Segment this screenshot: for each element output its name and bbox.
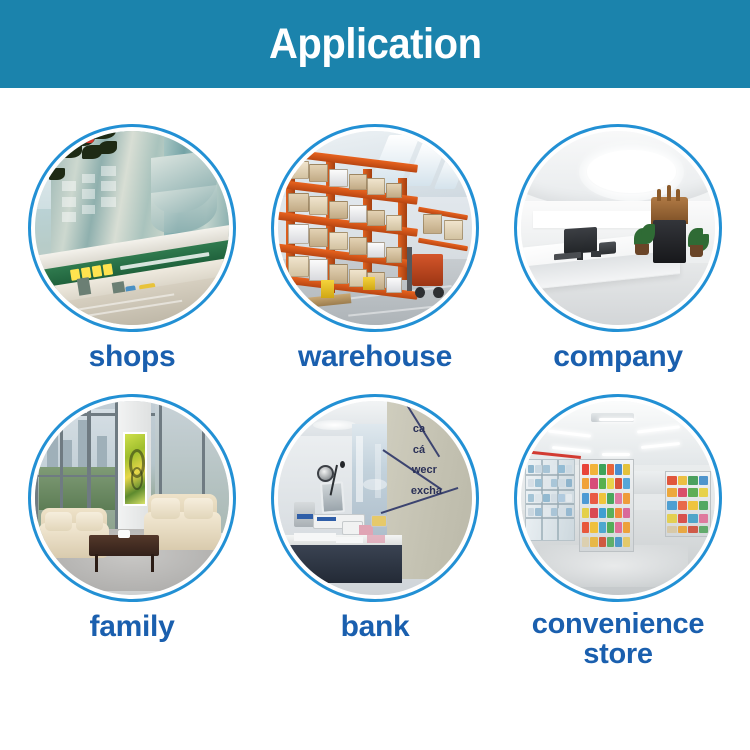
convenience-store-circle-frame bbox=[514, 394, 722, 602]
application-grid: shops bbox=[0, 88, 750, 750]
application-card-bank[interactable]: ca cá wecr excha bbox=[250, 394, 500, 642]
company-label: company bbox=[553, 341, 683, 372]
warehouse-racking bbox=[278, 147, 418, 306]
application-card-company[interactable]: company bbox=[493, 124, 743, 372]
application-card-family[interactable]: family bbox=[7, 394, 257, 642]
family-coffee-table bbox=[89, 535, 159, 556]
application-card-warehouse[interactable]: warehouse bbox=[250, 124, 500, 372]
shops-circle-frame bbox=[28, 124, 236, 332]
application-card-shops[interactable]: shops bbox=[7, 124, 257, 372]
convenience-store-label: convenience store bbox=[532, 609, 704, 669]
warehouse-photo bbox=[278, 131, 472, 325]
warehouse-circle-frame bbox=[271, 124, 479, 332]
shops-label: shops bbox=[89, 341, 176, 372]
bank-wall-text-line-3: wecr bbox=[412, 464, 437, 476]
family-circle-frame bbox=[28, 394, 236, 602]
convenience-store-fridge bbox=[525, 459, 575, 540]
page-title: Application bbox=[269, 23, 482, 66]
application-card-convenience-store[interactable]: convenience store bbox=[493, 394, 743, 669]
bank-circle-frame: ca cá wecr excha bbox=[271, 394, 479, 602]
shops-photo bbox=[35, 131, 229, 325]
company-circle-frame bbox=[514, 124, 722, 332]
convenience-store-label-line-1: convenience bbox=[532, 609, 704, 639]
family-label: family bbox=[90, 611, 175, 642]
convenience-store-photo bbox=[521, 401, 715, 595]
bank-wall-text-line-1: ca bbox=[413, 423, 425, 435]
convenience-store-label-line-2: store bbox=[532, 639, 704, 669]
bank-wall-text-line-4: excha bbox=[411, 485, 442, 497]
warehouse-label: warehouse bbox=[298, 341, 452, 372]
bank-photo: ca cá wecr excha bbox=[278, 401, 472, 595]
company-photo bbox=[521, 131, 715, 325]
shops-foliage bbox=[35, 131, 136, 224]
company-monitor bbox=[564, 227, 597, 255]
page-header-banner: Application bbox=[0, 0, 750, 88]
bank-label: bank bbox=[341, 611, 410, 642]
warehouse-forklift bbox=[406, 247, 449, 297]
family-wall-art bbox=[123, 432, 146, 506]
bank-counter bbox=[278, 545, 402, 584]
convenience-store-right-aisle bbox=[665, 471, 712, 537]
bank-wall-text-line-2: cá bbox=[413, 444, 425, 456]
family-photo bbox=[35, 401, 229, 595]
convenience-store-center-aisle bbox=[579, 459, 633, 552]
